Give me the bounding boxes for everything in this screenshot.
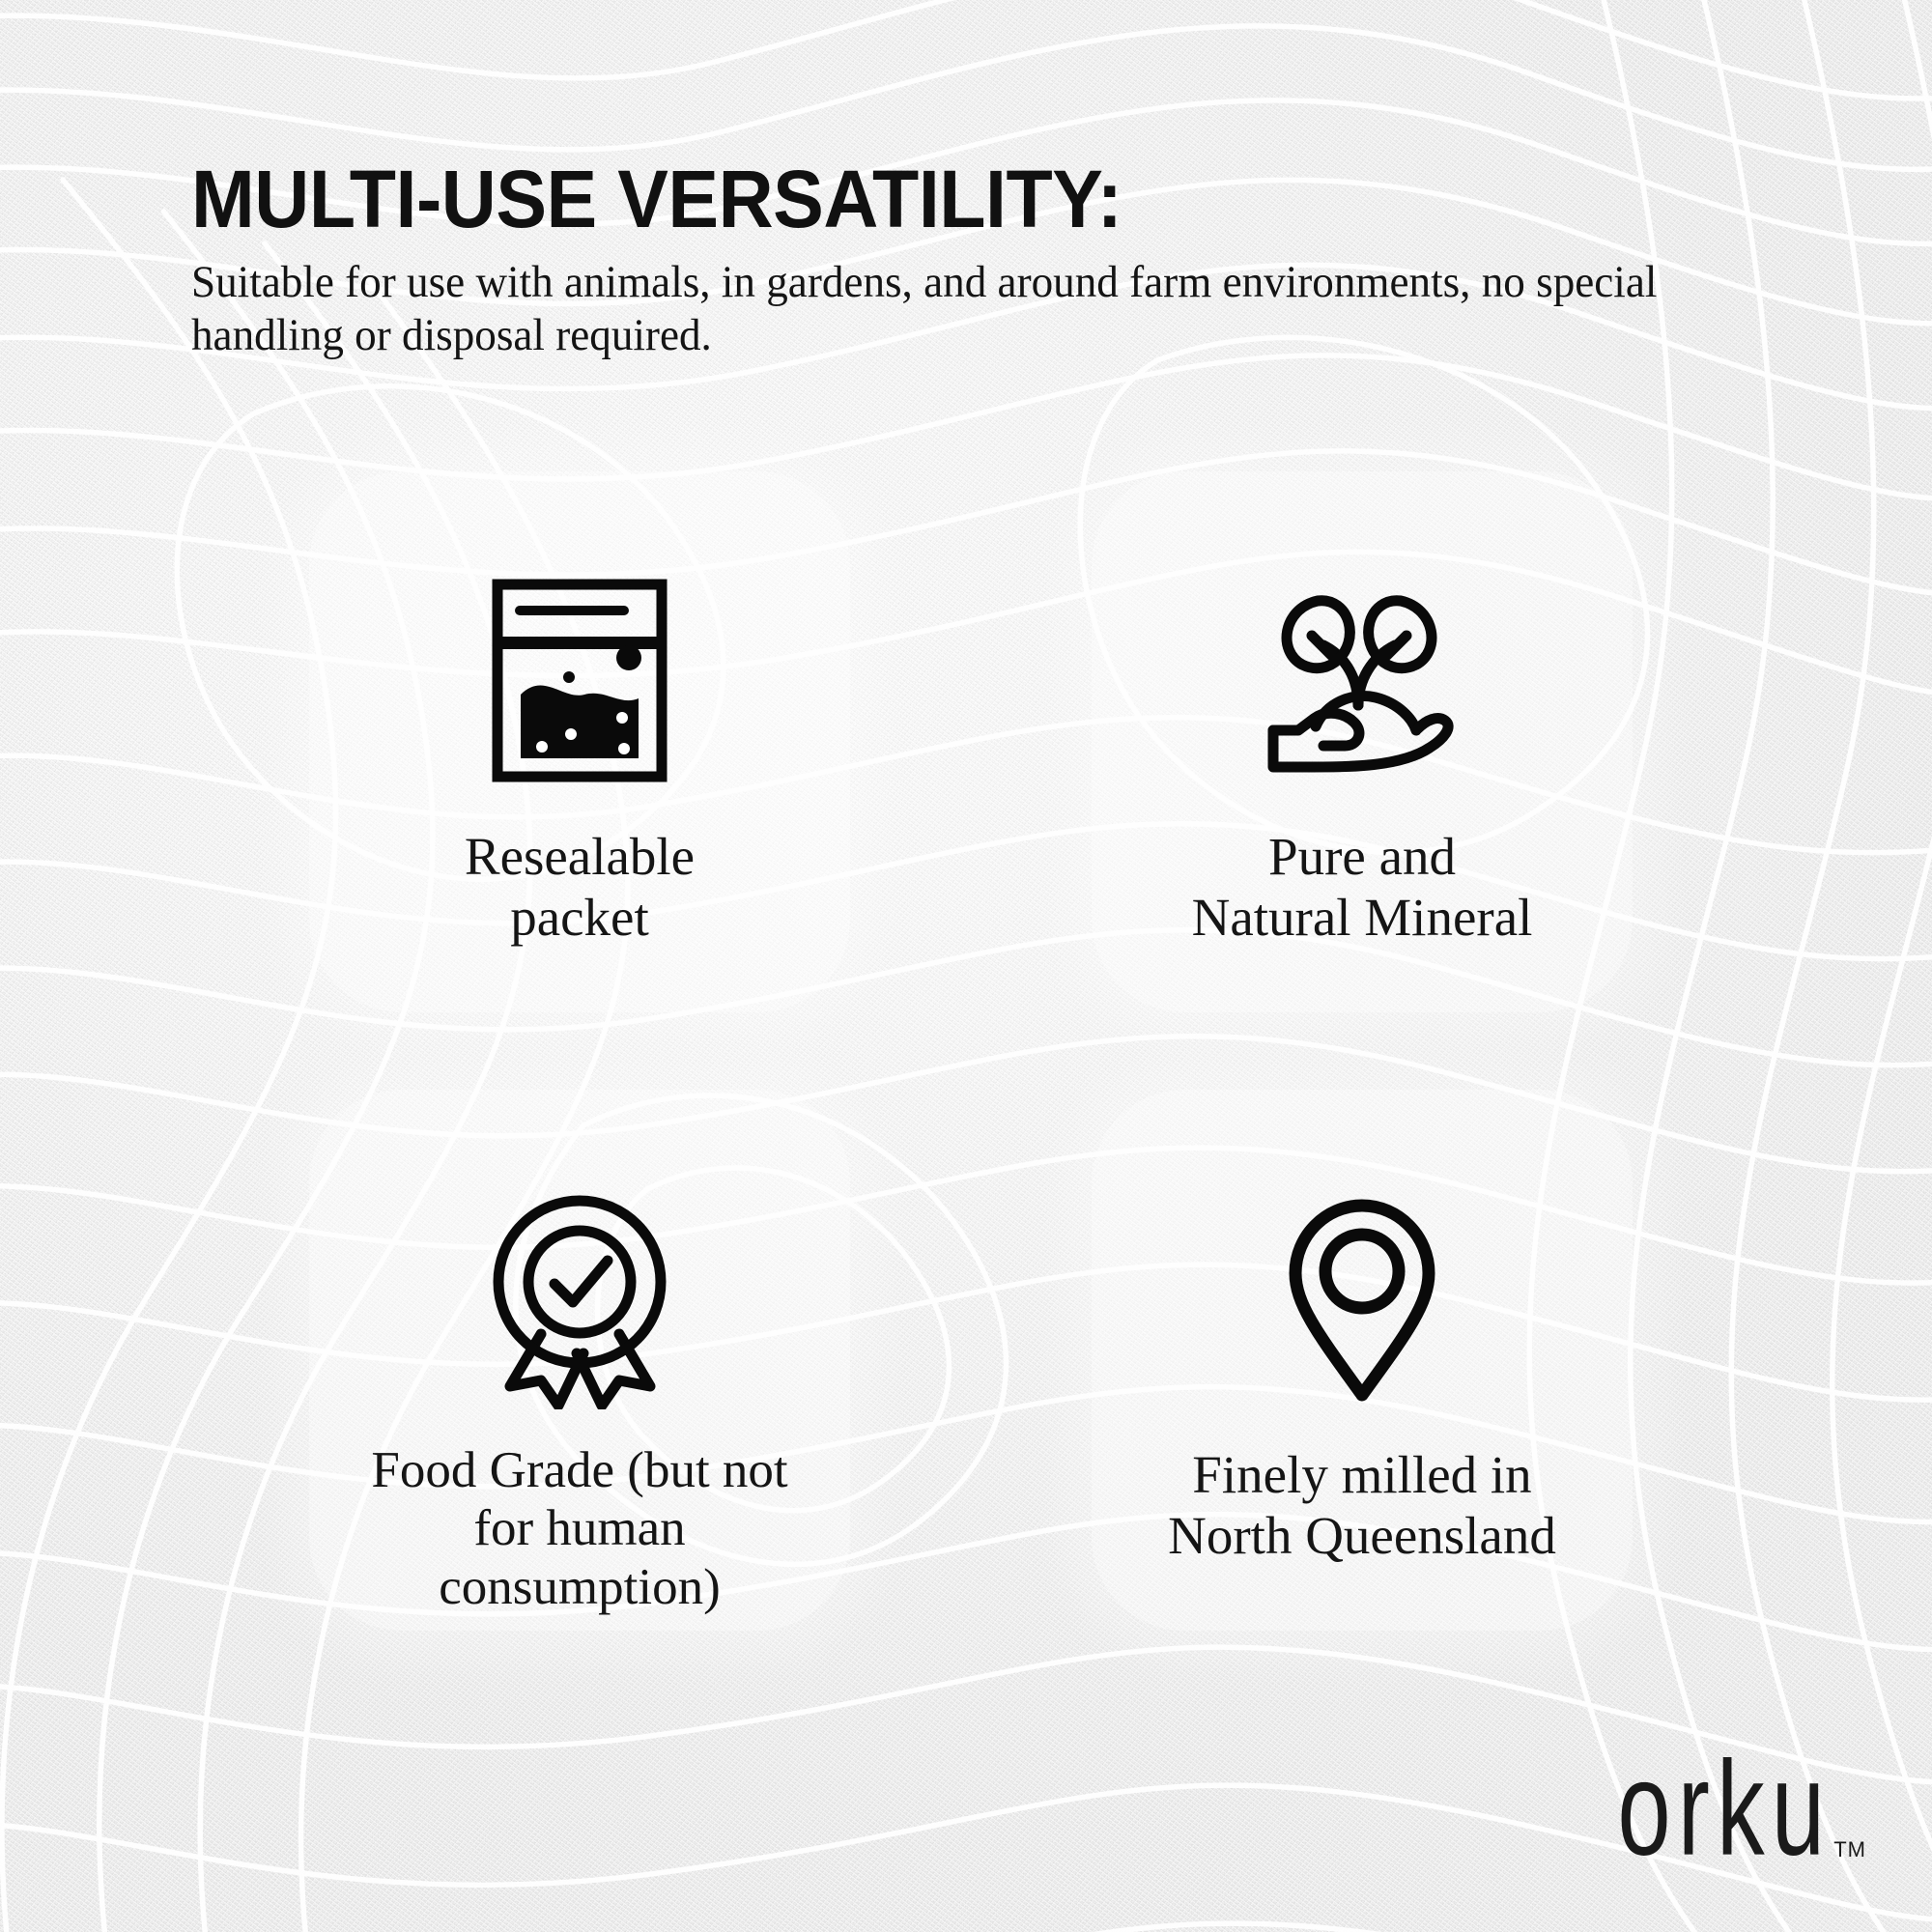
header: MULTI-USE VERSATILITY: Suitable for use … bbox=[191, 159, 1756, 361]
resealable-packet-icon bbox=[488, 554, 671, 806]
feature-card-north-queensland: Finely milled in North Queensland bbox=[1092, 1090, 1633, 1631]
feature-card-label: Finely milled in North Queensland bbox=[1053, 1445, 1671, 1566]
feature-card-label: Food Grade (but not for human consumptio… bbox=[270, 1441, 889, 1616]
sprout-in-hand-icon bbox=[1256, 554, 1468, 806]
page-subtitle: Suitable for use with animals, in garden… bbox=[191, 256, 1693, 361]
feature-card-label: Resealable packet bbox=[270, 827, 889, 948]
brand-name: orku bbox=[1617, 1742, 1832, 1876]
trademark-symbol: TM bbox=[1833, 1837, 1866, 1862]
award-badge-check-icon bbox=[481, 1173, 679, 1424]
brand-logo: orku TM bbox=[1564, 1756, 1866, 1876]
page-title: MULTI-USE VERSATILITY: bbox=[191, 159, 1662, 239]
map-pin-icon bbox=[1280, 1173, 1444, 1424]
feature-card-label: Pure and Natural Mineral bbox=[1053, 827, 1671, 948]
feature-card-resealable-packet: Resealable packet bbox=[309, 471, 850, 1012]
feature-card-pure-natural-mineral: Pure and Natural Mineral bbox=[1092, 471, 1633, 1012]
feature-card-food-grade: Food Grade (but not for human consumptio… bbox=[309, 1090, 850, 1631]
feature-grid: Resealable packet bbox=[0, 462, 1932, 1650]
infographic-page: MULTI-USE VERSATILITY: Suitable for use … bbox=[0, 0, 1932, 1932]
